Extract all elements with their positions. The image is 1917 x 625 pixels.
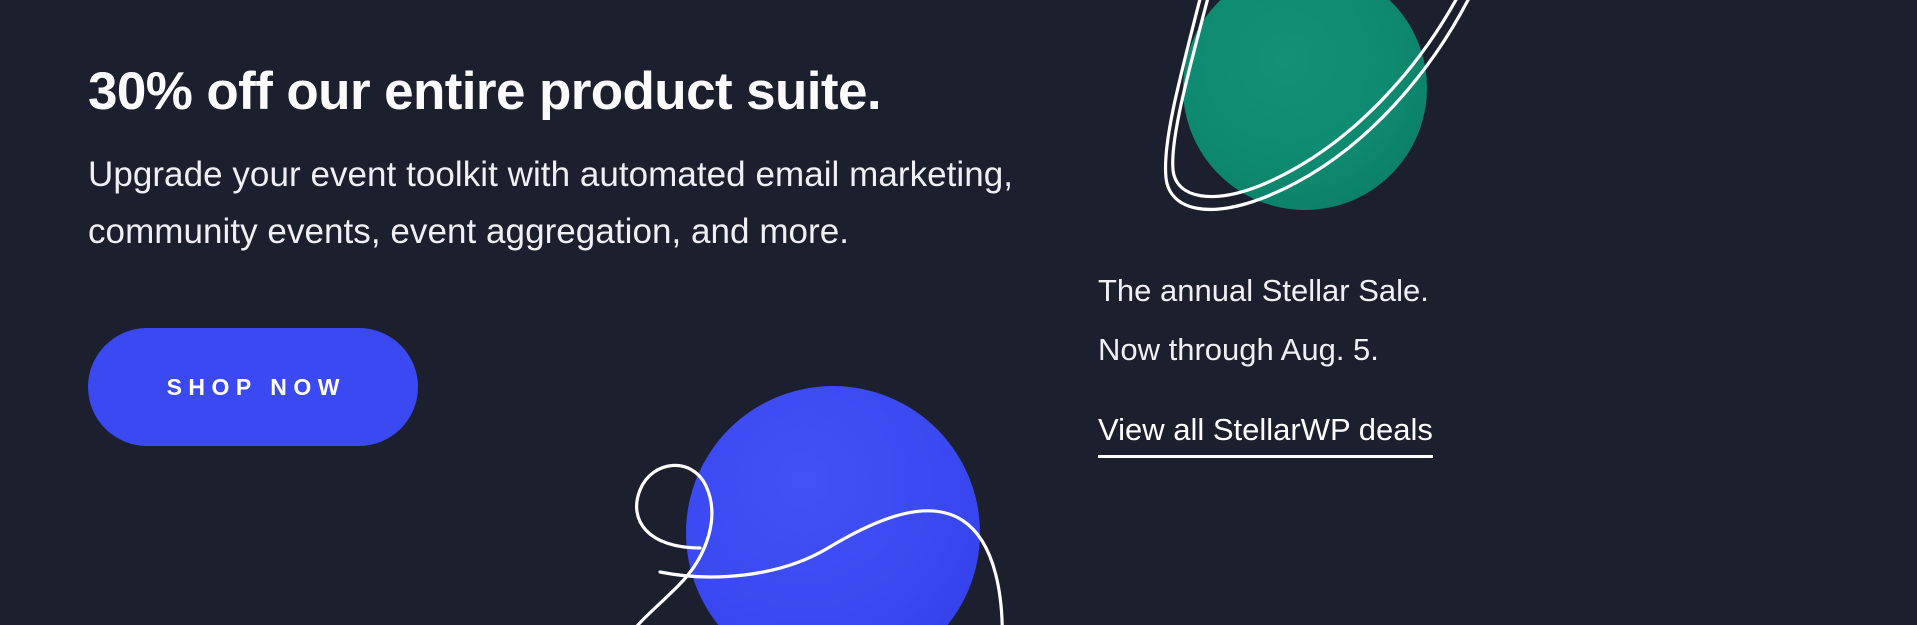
promo-subheadline: Upgrade your event toolkit with automate… [88, 121, 1158, 260]
squiggle-wave-line [660, 511, 1002, 625]
green-circle-swoosh-outer [1165, 0, 1487, 209]
sale-info-line-2: Now through Aug. 5. [1098, 306, 1528, 365]
green-circle-shape [1183, 0, 1427, 210]
view-all-deals-link[interactable]: View all StellarWP deals [1098, 411, 1433, 458]
promo-headline: 30% off our entire product suite. [88, 62, 1178, 121]
sale-info-line-1: The annual Stellar Sale. [1098, 275, 1528, 306]
squiggle-line [628, 465, 712, 625]
promo-copy-block: 30% off our entire product suite. Upgrad… [88, 62, 1178, 261]
green-circle-swoosh-inner [1173, 0, 1476, 196]
sale-info-block: The annual Stellar Sale. Now through Aug… [1098, 275, 1528, 458]
shop-now-button[interactable]: SHOP NOW [88, 328, 418, 446]
promo-banner: 30% off our entire product suite. Upgrad… [0, 0, 1917, 625]
blue-circle-shape [686, 386, 980, 625]
